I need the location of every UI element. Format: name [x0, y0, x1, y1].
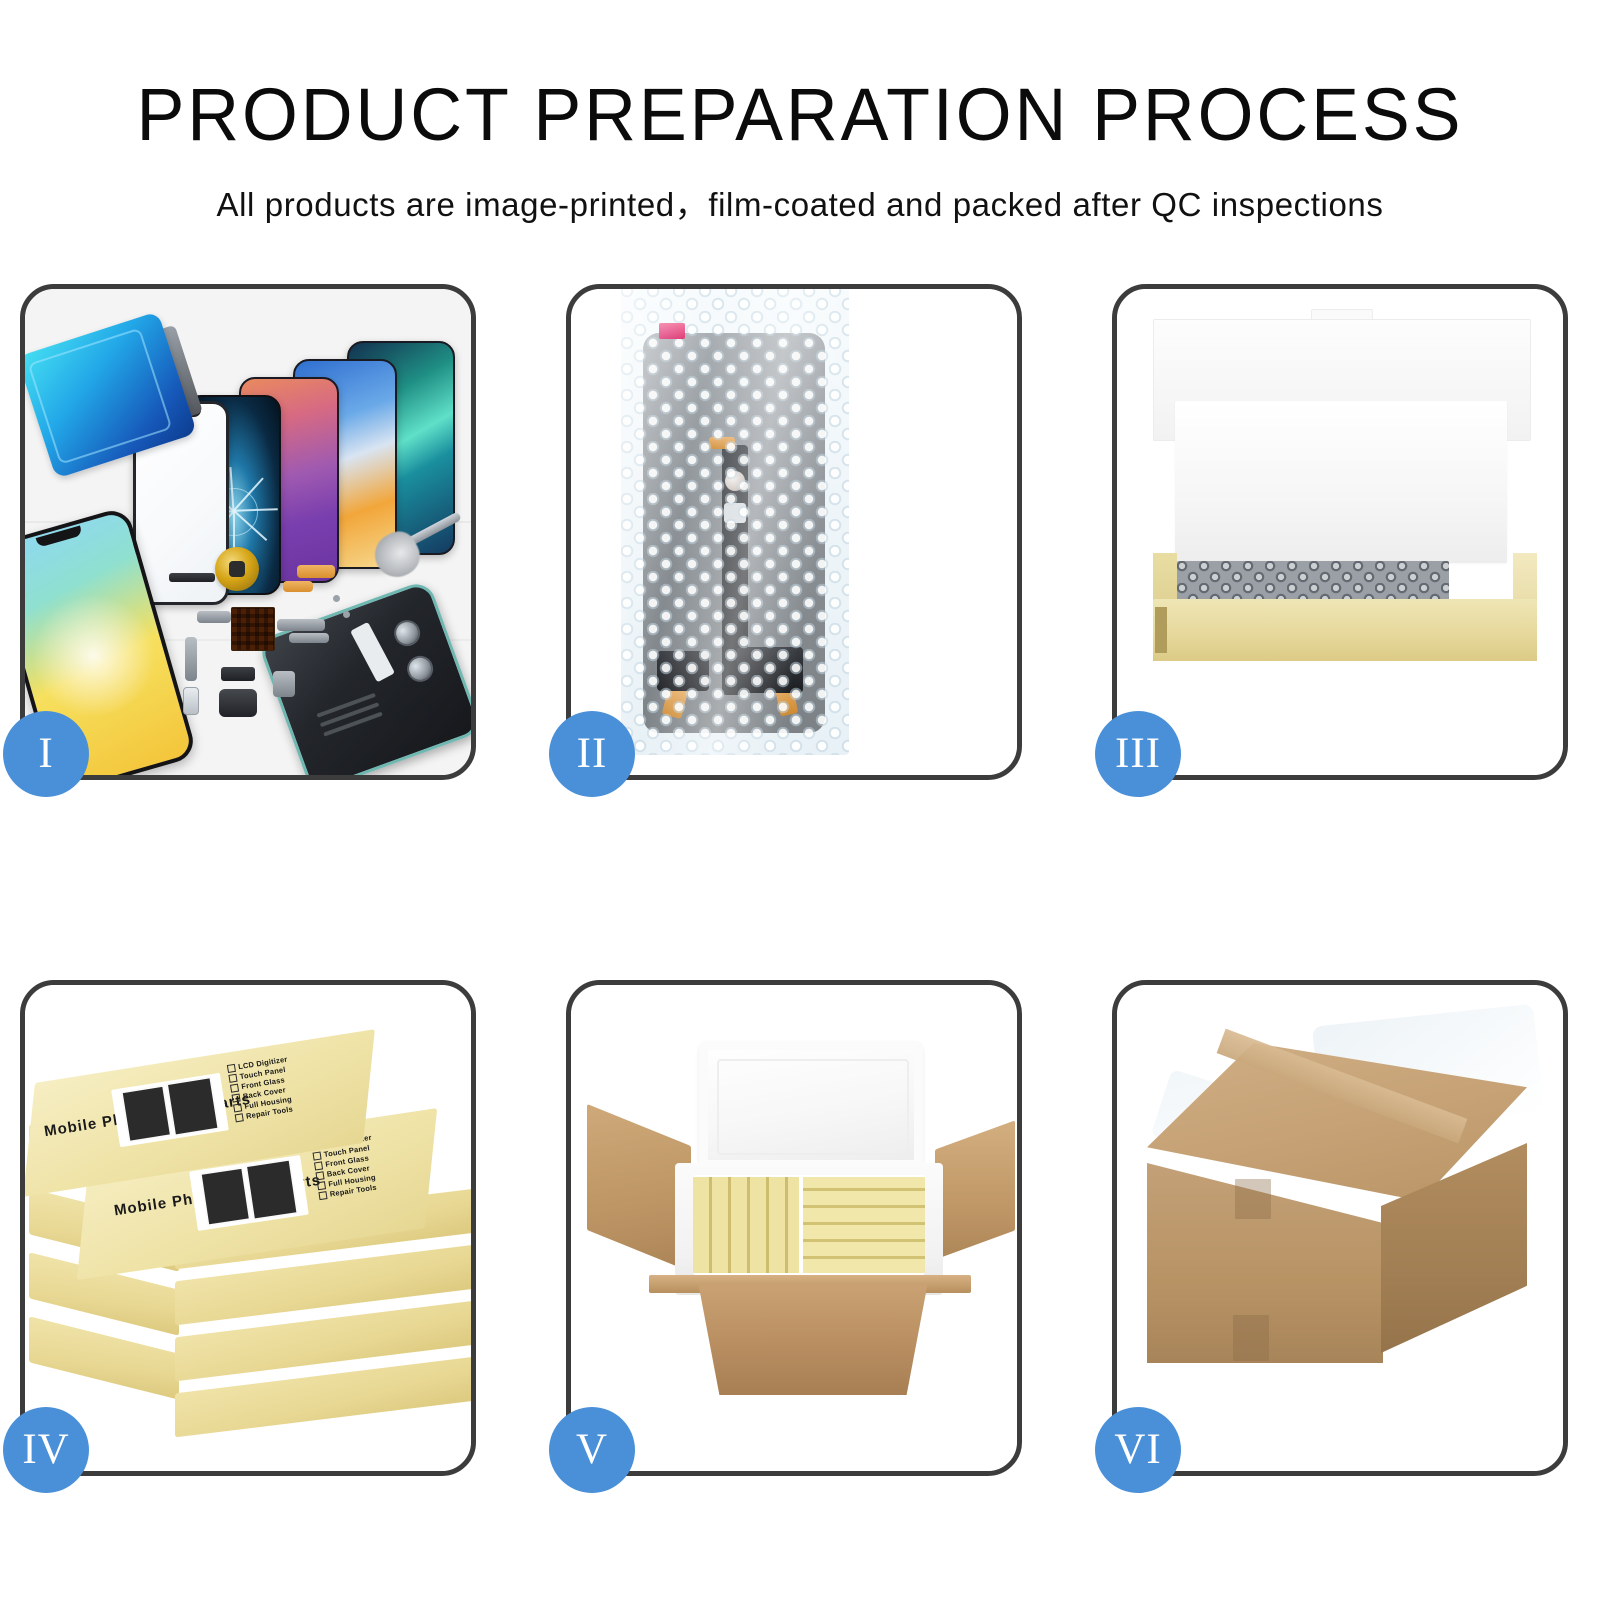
step-badge-1: I	[3, 711, 89, 797]
retail-box-checklist-1: LCD Digitizer Touch Panel Front Glass Ba…	[227, 1055, 296, 1124]
part-screw-1	[333, 595, 340, 602]
part-flex-cable-3	[277, 619, 325, 631]
process-steps-grid: I II	[20, 284, 1580, 1476]
part-sim-tray	[183, 687, 199, 715]
process-step-card-6[interactable]: VI	[1112, 980, 1568, 1476]
carton-tab-upper	[1235, 1179, 1271, 1219]
part-flex-cable-2	[283, 581, 313, 592]
page-header: PRODUCT PREPARATION PROCESS All products…	[0, 0, 1600, 226]
step-badge-5: V	[549, 1407, 635, 1493]
camera-lens-1	[390, 616, 423, 649]
qc-pink-label	[659, 323, 685, 339]
part-taptic-module	[273, 671, 295, 697]
part-wireless-coil	[215, 547, 259, 591]
checkbox-icon	[233, 1103, 242, 1112]
foam-cavity	[693, 1175, 925, 1275]
process-step-card-4[interactable]: Mobile Phone Spare Parts LCD Digitizer T…	[20, 980, 476, 1476]
checkbox-icon	[232, 1093, 241, 1102]
step-2-image	[571, 289, 1017, 775]
box-photo-phone-a	[120, 1085, 172, 1143]
checkbox-icon	[318, 1191, 327, 1200]
checkbox-icon	[313, 1152, 322, 1161]
checkbox-icon	[230, 1084, 239, 1093]
checkbox-icon	[227, 1064, 236, 1073]
step-1-image	[25, 289, 471, 775]
yellow-boxes-group-b	[803, 1177, 925, 1273]
process-step-card-3[interactable]: III	[1112, 284, 1568, 780]
housing-white-tab	[350, 622, 395, 683]
part-screw-2	[343, 611, 350, 618]
foam-lid-recess	[717, 1059, 909, 1155]
part-button-flex	[197, 611, 231, 623]
checkbox-icon	[228, 1074, 237, 1083]
part-ic-chip	[231, 607, 275, 651]
part-volume-flex	[185, 637, 197, 681]
part-earpiece-mesh	[169, 573, 215, 582]
box-photo-phone-b	[245, 1159, 299, 1221]
white-foam-sheet	[1175, 401, 1507, 563]
step-badge-4: IV	[3, 1407, 89, 1493]
carton-tab-lower	[1233, 1315, 1269, 1361]
process-step-card-2[interactable]: II	[566, 284, 1022, 780]
crack-lines	[233, 511, 235, 513]
box-photo-phone-b	[166, 1076, 220, 1137]
part-speaker	[219, 689, 257, 717]
page-title: PRODUCT PREPARATION PROCESS	[24, 78, 1576, 152]
yellow-phone-notch	[36, 525, 83, 547]
camera-lens-2	[403, 652, 436, 685]
step-6-image	[1117, 985, 1563, 1471]
box-photo-phone-a	[200, 1167, 251, 1227]
part-flex-cable-1	[297, 565, 335, 578]
step-3-image	[1117, 289, 1563, 775]
part-flex-cable-4	[289, 633, 329, 643]
bubble-wrap-pouch	[621, 289, 849, 755]
housing-strip	[316, 693, 376, 718]
box-front-panel	[1153, 599, 1537, 661]
bubble-texture	[621, 289, 849, 755]
process-step-card-1[interactable]: I	[20, 284, 476, 780]
page-subtitle: All products are image-printed，film-coat…	[0, 152, 1600, 226]
checkbox-icon	[317, 1181, 326, 1190]
yellow-boxes-group-a	[693, 1177, 799, 1273]
part-vibrator	[221, 667, 255, 681]
checkbox-icon	[314, 1161, 323, 1170]
carton-body	[683, 1285, 943, 1395]
checkbox-icon	[315, 1171, 324, 1180]
process-step-card-5[interactable]: V	[566, 980, 1022, 1476]
step-4-image: Mobile Phone Spare Parts LCD Digitizer T…	[25, 985, 471, 1471]
step-5-image	[571, 985, 1017, 1471]
box-inner-shadow	[1155, 607, 1167, 653]
step-badge-3: III	[1095, 711, 1181, 797]
step-badge-6: VI	[1095, 1407, 1181, 1493]
step-badge-2: II	[549, 711, 635, 797]
checkbox-icon	[235, 1113, 244, 1122]
